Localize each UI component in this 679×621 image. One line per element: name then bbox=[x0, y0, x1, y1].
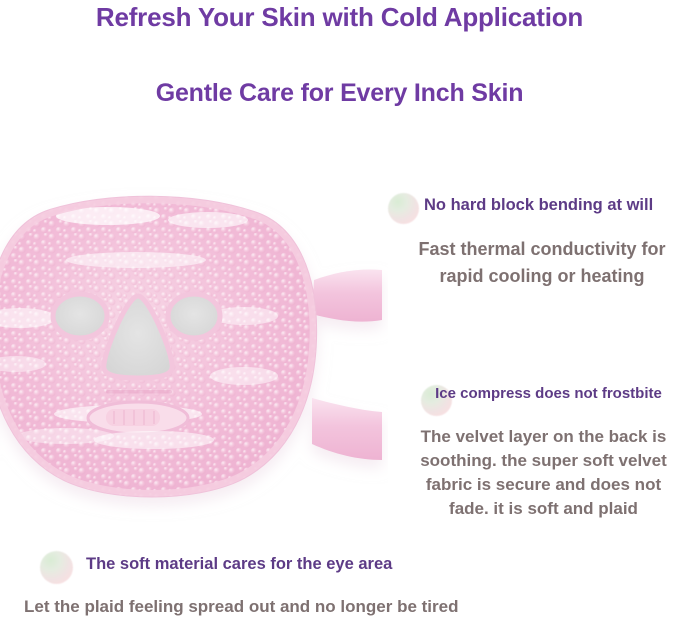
headline-primary: Refresh Your Skin with Cold Application bbox=[0, 2, 679, 33]
bullet-dot-icon-3 bbox=[40, 551, 73, 584]
product-marketing-image: Refresh Your Skin with Cold Application … bbox=[0, 0, 679, 621]
feature-3-heading: The soft material cares for the eye area bbox=[86, 555, 506, 574]
headline-secondary: Gentle Care for Every Inch Skin bbox=[0, 79, 679, 108]
product-gel-face-mask-image bbox=[0, 168, 388, 523]
feature-1-heading: No hard block bending at will bbox=[424, 196, 679, 215]
feature-2-heading: Ice compress does not frostbite bbox=[418, 384, 679, 404]
feature-2-body: The velvet layer on the back is soothing… bbox=[408, 425, 679, 521]
feature-1-body: Fast thermal conductivity for rapid cool… bbox=[405, 236, 679, 290]
bullet-dot-icon-1 bbox=[388, 193, 419, 224]
feature-3-body: Let the plaid feeling spread out and no … bbox=[24, 597, 624, 617]
